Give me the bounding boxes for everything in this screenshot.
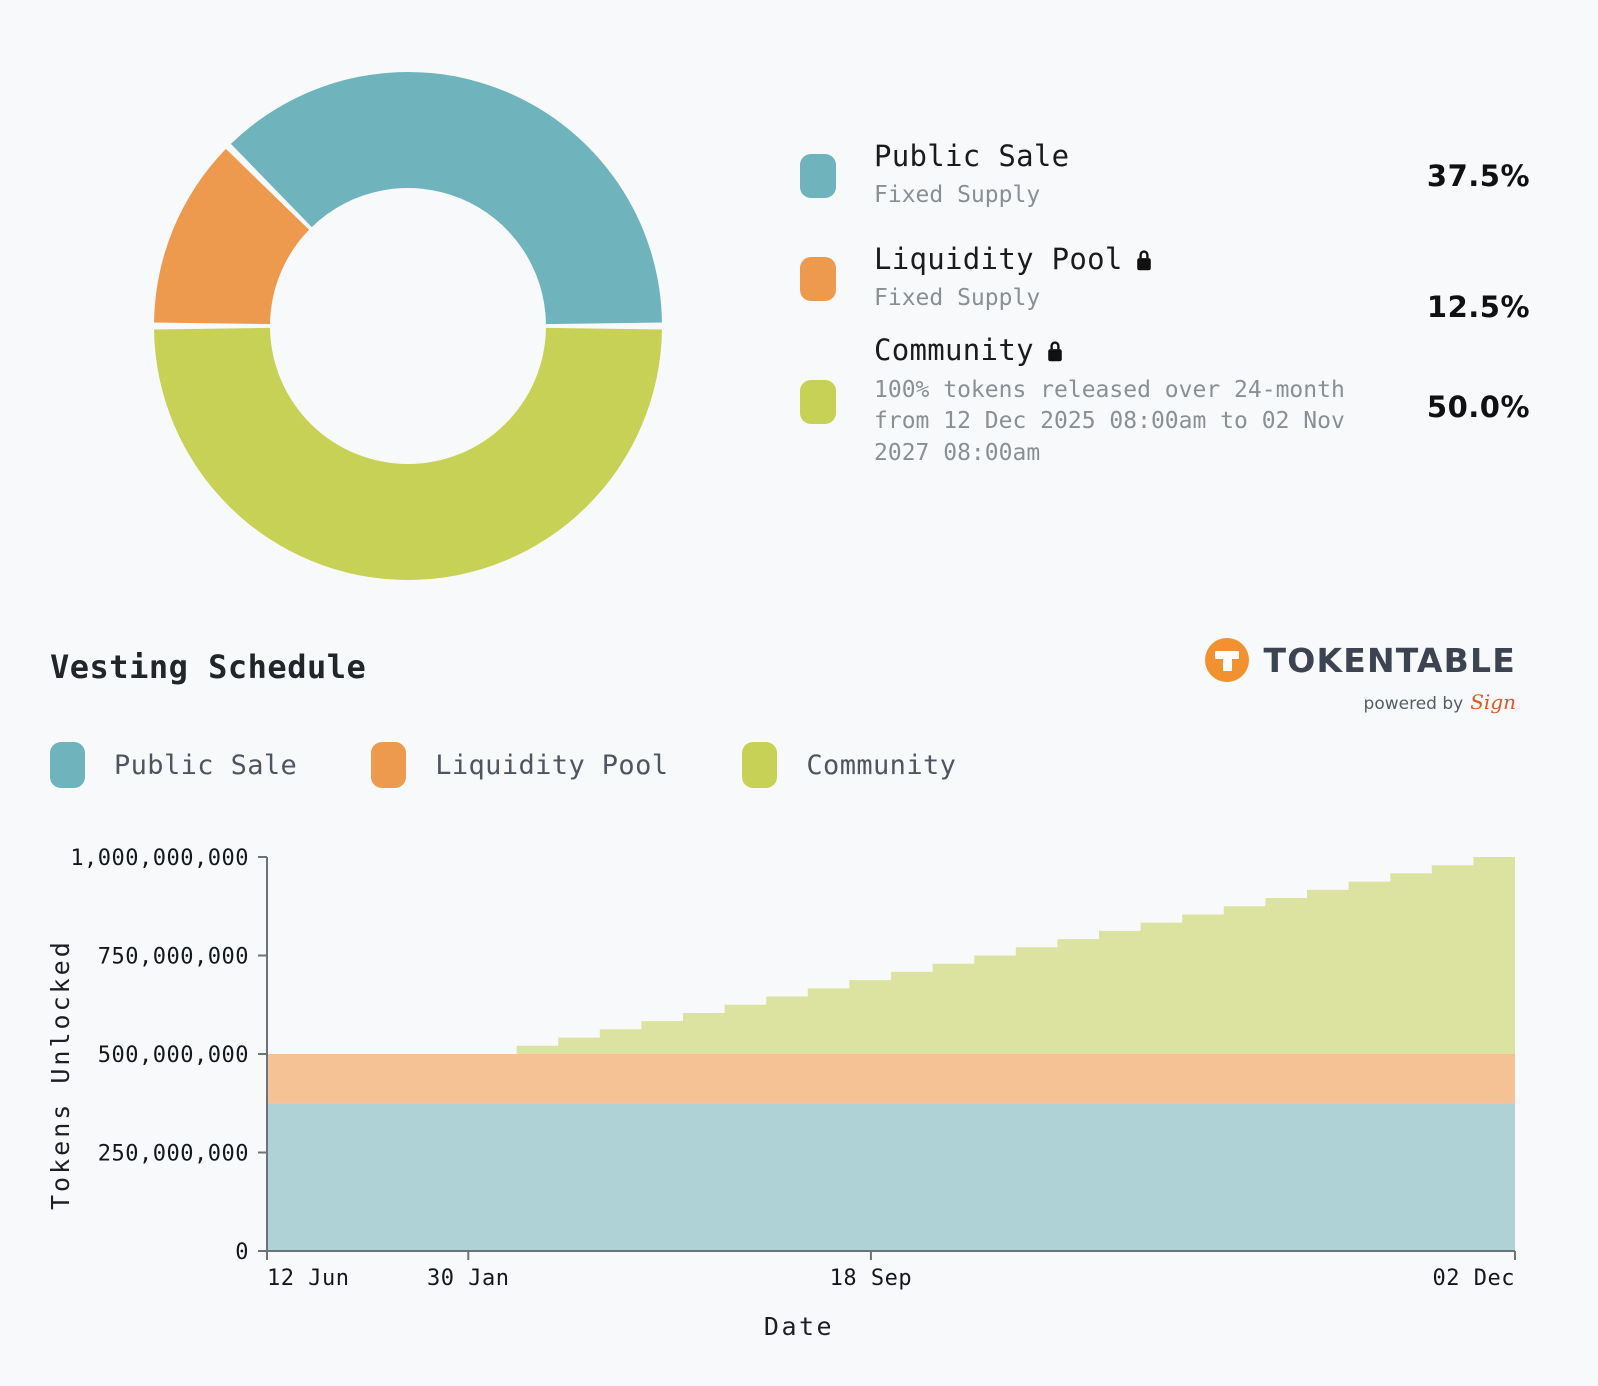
vesting-legend-item-community[interactable]: Community — [742, 742, 956, 788]
x-tick-label: 30 Jan — [427, 1266, 509, 1291]
y-tick-label: 0 — [235, 1240, 249, 1265]
x-tick-label: 12 Jun — [267, 1266, 349, 1291]
legend-swatch-liquidity-pool — [371, 742, 406, 788]
swatch-liquidity-pool — [800, 257, 836, 301]
tokenomics-page: Public Sale Fixed Supply 37.5% Liquidity… — [0, 0, 1598, 1386]
vesting-legend: Public Sale Liquidity Pool Community — [50, 742, 956, 788]
powered-by: powered by Sign — [1205, 690, 1516, 714]
vesting-schedule-title: Vesting Schedule — [50, 648, 366, 686]
y-tick-label: 1,000,000,000 — [70, 846, 249, 871]
legend-swatch-public-sale — [50, 742, 85, 788]
donut-svg — [148, 66, 668, 586]
tokentable-logo-icon — [1205, 638, 1249, 682]
x-axis-label: Date — [0, 1312, 1598, 1341]
vesting-legend-item-liquidity-pool[interactable]: Liquidity Pool — [371, 742, 668, 788]
y-tick-label: 500,000,000 — [98, 1043, 249, 1068]
swatch-public-sale — [800, 154, 836, 198]
brand-name: TOKENTABLE — [1263, 641, 1516, 680]
allocation-label: Community — [874, 334, 1034, 367]
legend-label-public-sale: Public Sale — [114, 750, 297, 781]
donut-slice-community[interactable] — [154, 328, 662, 580]
y-tick-label: 750,000,000 — [98, 945, 249, 970]
sign-logo: Sign — [1470, 690, 1516, 714]
allocation-name-liquidity-pool: Liquidity Pool — [874, 243, 1530, 276]
swatch-community — [800, 380, 836, 424]
allocation-subtitle-liquidity-pool: Fixed Supply — [874, 283, 1394, 315]
allocation-row-public-sale[interactable]: Public Sale Fixed Supply 37.5% — [800, 126, 1530, 226]
legend-label-community: Community — [806, 750, 956, 781]
tokentable-brand[interactable]: TOKENTABLE powered by Sign — [1205, 638, 1516, 714]
allocation-subtitle-community: 100% tokens released over 24-month from … — [874, 375, 1394, 470]
donut-slice-public-sale[interactable] — [231, 72, 662, 324]
allocation-label: Public Sale — [874, 140, 1069, 173]
allocation-percent-community: 50.0% — [1427, 390, 1530, 424]
legend-label-liquidity-pool: Liquidity Pool — [435, 750, 668, 781]
legend-swatch-community — [742, 742, 777, 788]
area-band-community — [267, 857, 1515, 1054]
powered-by-label: powered by — [1364, 694, 1464, 714]
allocation-legend: Public Sale Fixed Supply 37.5% Liquidity… — [800, 126, 1530, 472]
area-band-public-sale — [267, 1103, 1515, 1251]
x-tick-label: 18 Sep — [830, 1266, 912, 1291]
lock-icon — [1044, 338, 1066, 364]
x-tick-label: 02 Dec — [1433, 1266, 1515, 1291]
area-chart-svg: 0250,000,000500,000,000750,000,0001,000,… — [0, 820, 1598, 1380]
allocation-percent-liquidity-pool: 12.5% — [1427, 290, 1530, 324]
y-tick-label: 250,000,000 — [98, 1142, 249, 1167]
allocation-subtitle-public-sale: Fixed Supply — [874, 180, 1394, 212]
lock-icon — [1133, 247, 1155, 273]
vesting-legend-item-public-sale[interactable]: Public Sale — [50, 742, 297, 788]
allocation-percent-public-sale: 37.5% — [1427, 159, 1530, 193]
area-band-liquidity-pool — [267, 1054, 1515, 1103]
allocation-row-community[interactable]: Community 100% tokens released over 24-m… — [800, 332, 1530, 472]
y-axis-label: Tokens Unlocked — [46, 939, 75, 1210]
allocation-label: Liquidity Pool — [874, 243, 1123, 276]
allocation-row-liquidity-pool[interactable]: Liquidity Pool Fixed Supply 12.5% — [800, 226, 1530, 332]
vesting-area-chart: 0250,000,000500,000,000750,000,0001,000,… — [0, 820, 1598, 1380]
allocation-name-community: Community — [874, 334, 1530, 367]
allocation-donut-chart — [148, 66, 668, 586]
